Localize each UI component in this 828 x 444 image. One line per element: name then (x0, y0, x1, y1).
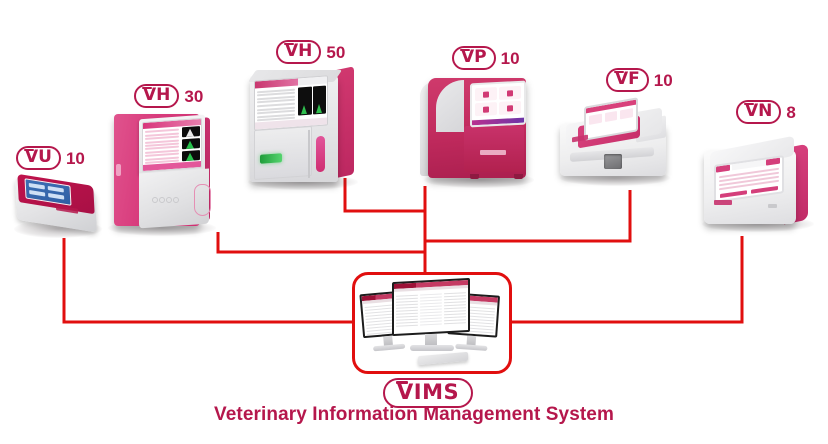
vn-8-logo-mark: VN (745, 103, 772, 120)
vn-8-brand-mark (714, 200, 732, 205)
vp-10-logo-mark: VP (461, 49, 487, 66)
badge-vp-10: VP 10 (452, 46, 520, 70)
vh-30-number: 30 (184, 88, 203, 105)
v-overbar-icon (744, 103, 754, 105)
vh-50-display (254, 75, 328, 130)
vp-10-logo-pill: VP (452, 46, 496, 70)
vims-workstation-monitors[interactable] (360, 280, 504, 366)
vh-50-logo-pill: VH (276, 40, 321, 64)
vp-10-foot (470, 174, 479, 179)
vf-10-logo-pill: VF (606, 68, 649, 92)
v-overbar-icon (460, 49, 470, 51)
page-title: Veterinary Information Management System (0, 404, 828, 426)
vh-50-panel-seam (308, 130, 310, 178)
v-overbar-icon (614, 71, 624, 73)
vims-logo-mark: VIMS (397, 382, 459, 403)
badge-vh-50: VH 50 (276, 40, 345, 64)
device-vh-50[interactable] (246, 66, 358, 188)
vn-8-model-text (768, 204, 777, 208)
vh-30-logo-pill: VH (134, 84, 179, 108)
vh-50-sample-drawer[interactable] (254, 126, 312, 180)
monitor-center[interactable] (392, 280, 472, 360)
vh-30-display (142, 118, 202, 172)
v-overbar-icon (396, 381, 408, 384)
vp-10-front-door[interactable] (464, 126, 524, 172)
badge-vh-30: VH 30 (134, 84, 203, 108)
v-overbar-icon (284, 43, 294, 45)
badge-vf-10: VF 10 (606, 68, 673, 92)
device-vp-10[interactable] (418, 70, 536, 188)
device-vh-30[interactable] (108, 108, 216, 232)
badge-vu-10: VU 10 (16, 146, 85, 170)
vu-10-number: 10 (66, 150, 85, 167)
vn-8-logo-pill: VN (736, 100, 781, 124)
vp-10-touchscreen[interactable] (470, 81, 526, 128)
monitor-center-stand-foot (410, 345, 454, 351)
v-overbar-icon (24, 149, 34, 151)
vf-10-logo-mark: VF (615, 71, 640, 88)
monitor-center-bezel (392, 278, 470, 336)
diagram-canvas: VU 10 VH 30 VH 50 VP 10 VF 10 (0, 0, 828, 444)
vp-10-foot (514, 174, 523, 179)
vp-10-brand-mark (480, 150, 506, 155)
device-vu-10[interactable] (12, 176, 104, 238)
vf-10-cartridge-slot[interactable] (604, 154, 622, 169)
badge-vn-8: VN 8 (736, 100, 796, 124)
vh-30-sample-tube-holder (194, 184, 211, 216)
vp-10-number: 10 (501, 50, 520, 67)
vh-50-status-led (260, 153, 282, 164)
vn-8-number: 8 (786, 104, 795, 121)
device-vf-10[interactable] (556, 96, 674, 188)
vu-10-logo-mark: VU (25, 149, 52, 166)
device-vn-8[interactable] (698, 140, 816, 236)
vh-50-probe-slot (316, 136, 325, 173)
v-overbar-icon (142, 87, 152, 89)
vh-50-logo-mark: VH (285, 43, 312, 60)
vh-50-number: 50 (326, 44, 345, 61)
monitor-center-screen (394, 280, 468, 334)
vh-30-side-button[interactable] (116, 164, 121, 176)
vh-30-logo-mark: VH (143, 87, 170, 104)
vu-10-logo-pill: VU (16, 146, 61, 170)
vh-30-indicator-lights (152, 196, 178, 204)
vf-10-number: 10 (654, 72, 673, 89)
